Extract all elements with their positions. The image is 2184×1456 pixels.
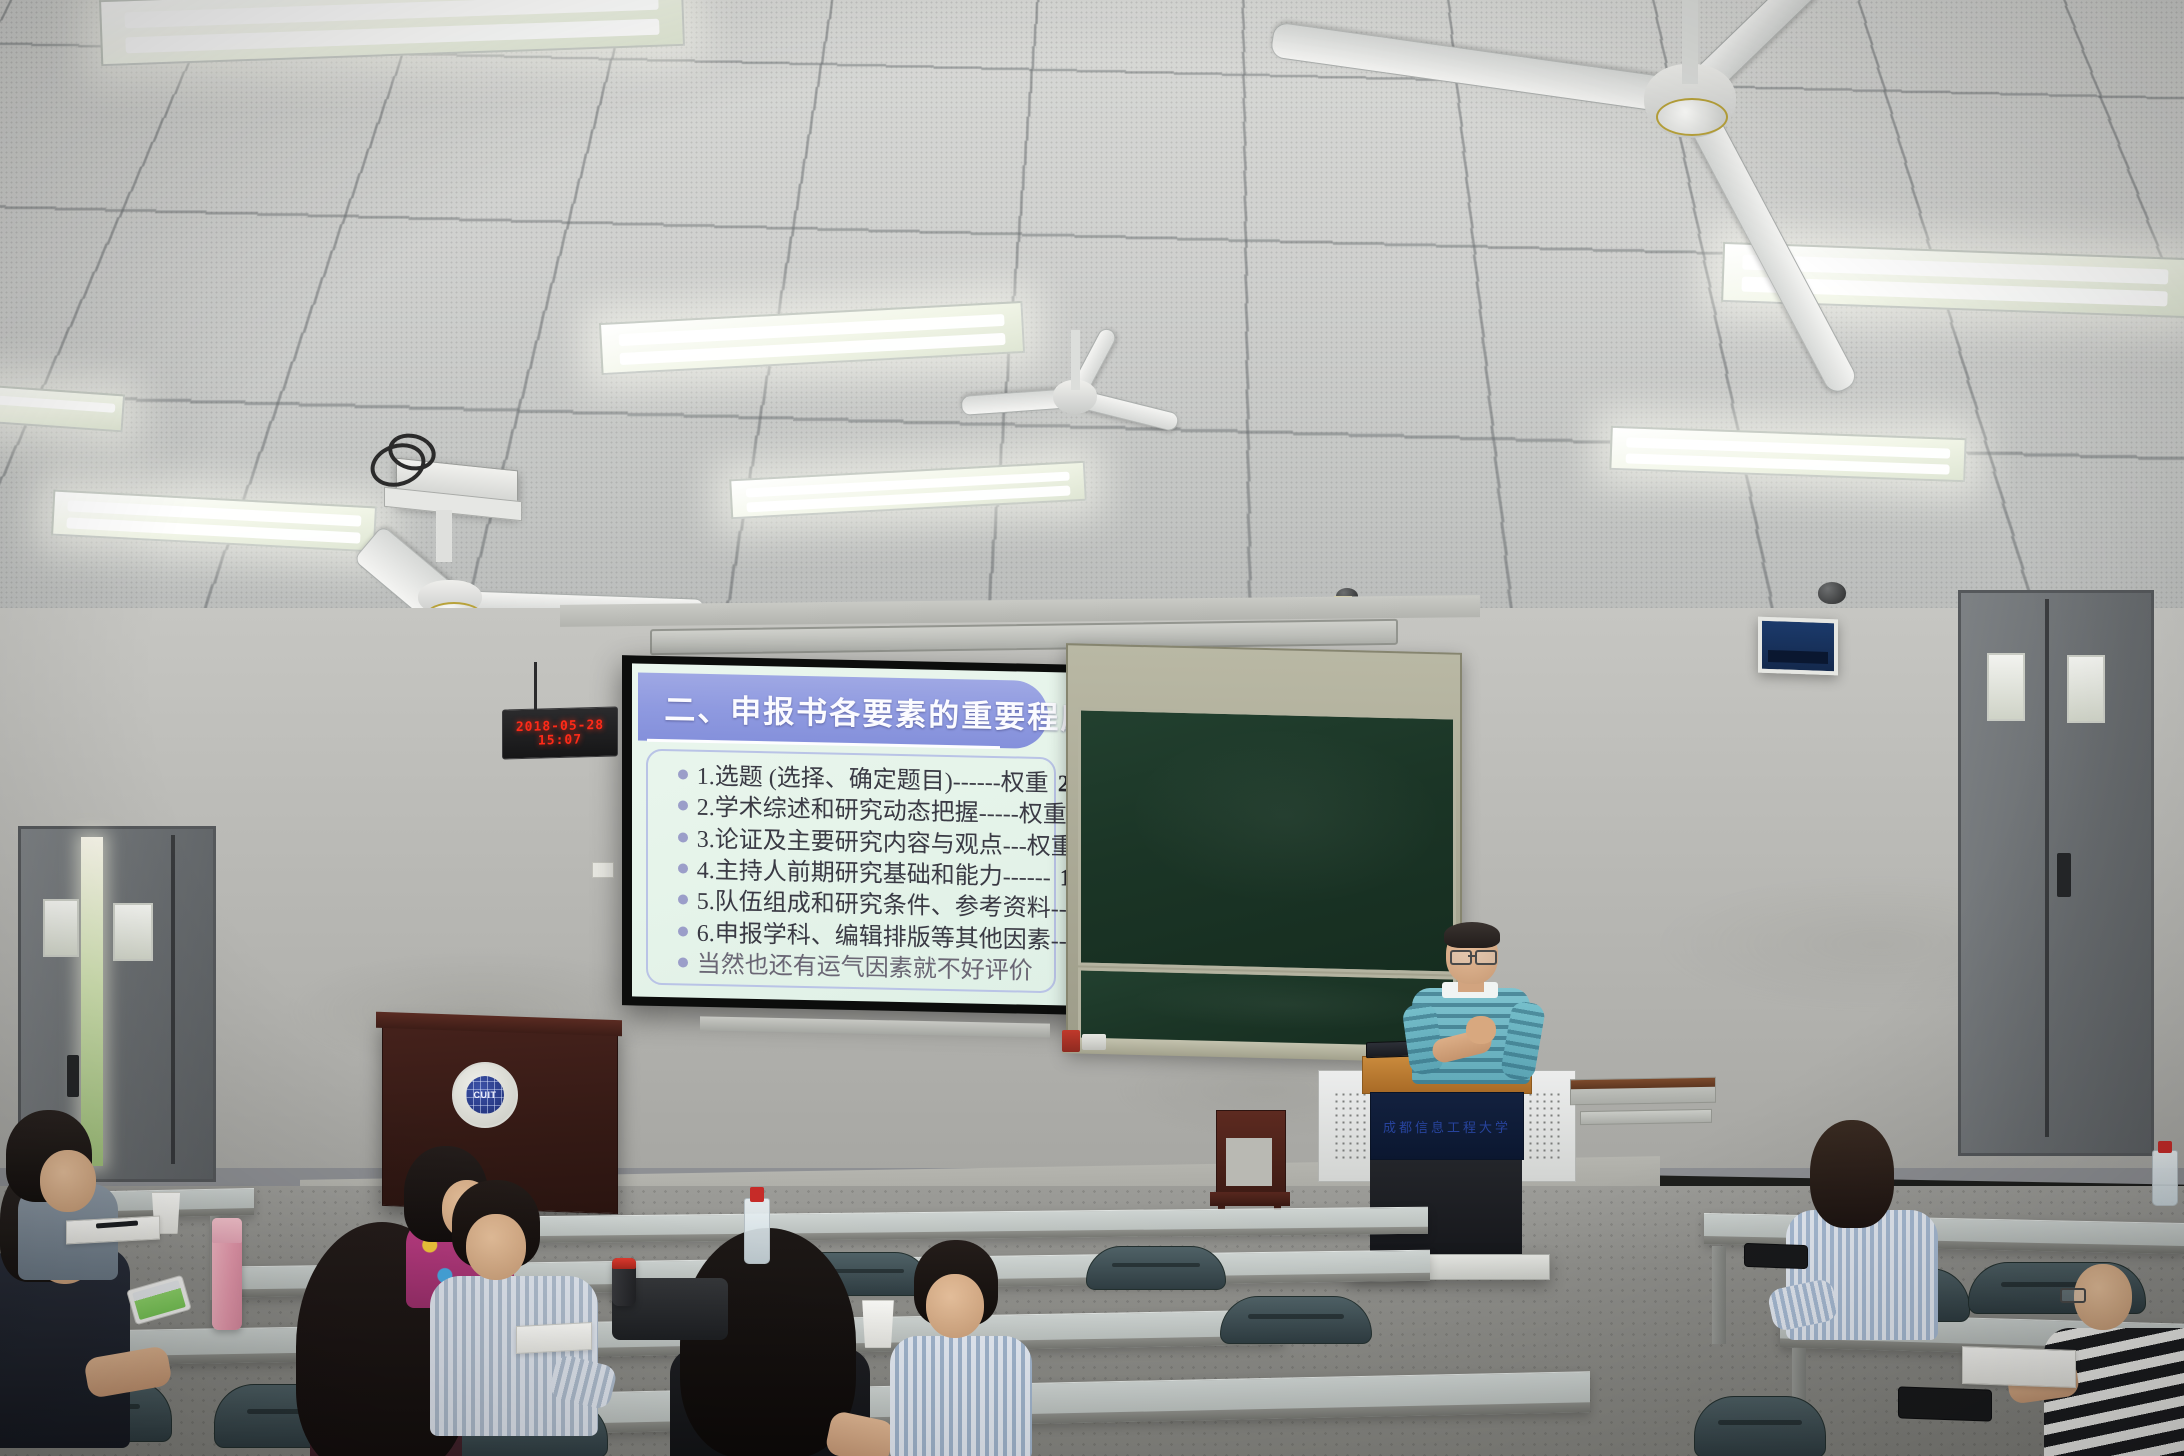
speaker-grill bbox=[1333, 1091, 1368, 1161]
podium-emblem: CUIT bbox=[452, 1062, 518, 1128]
security-camera-icon bbox=[1818, 582, 1846, 604]
door-window bbox=[113, 903, 153, 961]
side-bench-lower bbox=[1580, 1109, 1712, 1125]
desk-leg bbox=[1712, 1246, 1726, 1344]
led-clock-antenna bbox=[534, 662, 537, 710]
student-right-ponytail bbox=[1770, 1120, 1960, 1350]
ceiling-texture bbox=[0, 0, 2184, 670]
led-clock: 2018-05-28 15:07 bbox=[502, 706, 618, 759]
presenter bbox=[1380, 918, 1560, 1098]
door-right[interactable] bbox=[1958, 590, 2154, 1156]
chair-back-opening bbox=[1226, 1138, 1272, 1186]
bullet-dot-icon bbox=[678, 863, 688, 873]
wooden-chair[interactable] bbox=[1206, 1110, 1294, 1220]
fan-hub bbox=[1656, 98, 1728, 136]
wall-notice bbox=[592, 862, 614, 878]
person-head bbox=[466, 1214, 526, 1280]
smartphone[interactable] bbox=[1744, 1243, 1808, 1269]
presenter-hair bbox=[1444, 922, 1500, 948]
thermos-cap bbox=[612, 1258, 636, 1269]
pink-thermos bbox=[212, 1218, 242, 1330]
door-window bbox=[2067, 655, 2105, 723]
classroom-photo: 二、申报书各要素的重要程度 1.选题 (选择、确定题目)------权重 20%… bbox=[0, 0, 2184, 1456]
slide-title-banner: 二、申报书各要素的重要程度 bbox=[638, 672, 1048, 749]
led-clock-date: 2018-05-28 bbox=[516, 718, 604, 733]
display-ticker bbox=[1768, 650, 1829, 665]
presenter-hand bbox=[1466, 1016, 1496, 1044]
bullet-dot-icon bbox=[678, 770, 688, 780]
bullet-dot-icon bbox=[678, 832, 688, 842]
presenter-glasses-icon bbox=[1450, 950, 1472, 965]
side-bench bbox=[1570, 1077, 1716, 1106]
slide-surface: 二、申报书各要素的重要程度 1.选题 (选择、确定题目)------权重 20%… bbox=[632, 664, 1073, 1006]
emblem-text: CUIT bbox=[474, 1090, 497, 1100]
door-handle[interactable] bbox=[2057, 853, 2071, 897]
notebook bbox=[1962, 1346, 2076, 1388]
bullet-dot-icon bbox=[678, 895, 688, 905]
smartphone[interactable] bbox=[1898, 1386, 1992, 1421]
door-handle[interactable] bbox=[67, 1055, 79, 1097]
chair[interactable] bbox=[1086, 1246, 1226, 1290]
lectern-name-text: 成都信息工程大学 bbox=[1383, 1117, 1511, 1136]
ceiling-fan bbox=[452, 590, 460, 598]
bottle-cap bbox=[2158, 1141, 2171, 1153]
student-center-right bbox=[880, 1240, 1040, 1456]
bottle-cap bbox=[750, 1187, 763, 1201]
slide-title-underline bbox=[647, 739, 999, 749]
fan-rod bbox=[1071, 330, 1080, 390]
paper-cup bbox=[860, 1300, 896, 1348]
eraser bbox=[1082, 1034, 1106, 1050]
person-head bbox=[926, 1274, 984, 1338]
bullet-dot-icon bbox=[678, 801, 688, 811]
water-bottle bbox=[2152, 1150, 2178, 1206]
slide-bullet-list: 1.选题 (选择、确定题目)------权重 20%2.学术综述和研究动态把握-… bbox=[646, 749, 1056, 994]
water-bottle bbox=[744, 1198, 770, 1264]
projection-screen: 二、申报书各要素的重要程度 1.选题 (选择、确定题目)------权重 20%… bbox=[622, 655, 1082, 1015]
ceiling-fan bbox=[1690, 80, 1700, 90]
student-man-striped bbox=[410, 1180, 610, 1430]
led-clock-time: 15:07 bbox=[538, 733, 582, 747]
chair[interactable] bbox=[1694, 1396, 1826, 1456]
ceiling bbox=[0, 0, 2184, 670]
chair[interactable] bbox=[1220, 1296, 1372, 1344]
speaker-grill bbox=[1527, 1091, 1562, 1161]
chalk-box bbox=[1062, 1030, 1080, 1052]
red-thermos bbox=[612, 1258, 636, 1306]
person-hair bbox=[1810, 1120, 1894, 1228]
slide-bullet-text: 当然也还有运气因素就不好评价 bbox=[697, 951, 1033, 987]
notebook bbox=[66, 1216, 160, 1245]
slide-title-text: 二、申报书各要素的重要程度 bbox=[638, 684, 1072, 739]
notebook bbox=[516, 1322, 592, 1354]
bench-wood-top bbox=[1571, 1078, 1715, 1090]
ceiling-fan bbox=[1075, 388, 1083, 396]
bullet-dot-icon bbox=[678, 926, 688, 936]
door-window bbox=[1987, 653, 2025, 721]
door-window bbox=[43, 899, 79, 957]
door-seam bbox=[171, 835, 175, 1164]
person-glasses-icon bbox=[2060, 1288, 2086, 1303]
thermos-cap bbox=[212, 1218, 242, 1243]
door-seam bbox=[2045, 599, 2049, 1137]
student-center-black bbox=[650, 1228, 890, 1456]
fan-rod bbox=[1682, 0, 1698, 84]
projector-pole bbox=[436, 510, 452, 562]
globe-icon: CUIT bbox=[466, 1076, 504, 1114]
bullet-dot-icon bbox=[678, 957, 688, 967]
person-head bbox=[40, 1150, 96, 1212]
glasses-bridge bbox=[1468, 955, 1475, 957]
person-torso bbox=[890, 1336, 1032, 1456]
student-left-back bbox=[0, 1110, 140, 1270]
ceiling-projector bbox=[378, 440, 538, 550]
lectern-name-panel: 成都信息工程大学 bbox=[1370, 1092, 1524, 1160]
presenter-glasses-icon bbox=[1475, 950, 1497, 965]
wall-info-display bbox=[1758, 617, 1838, 676]
